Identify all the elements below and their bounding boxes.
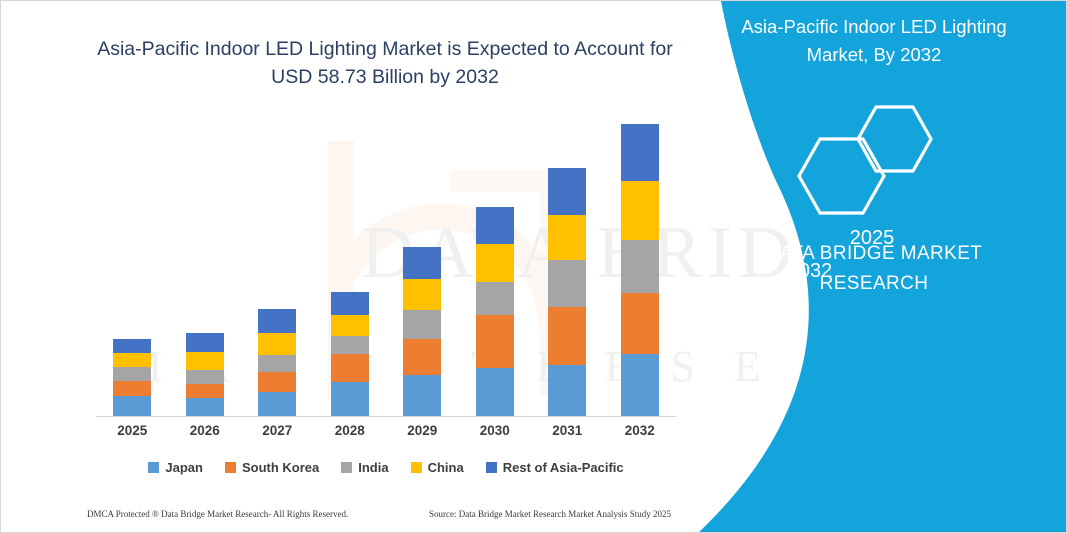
legend-swatch-icon [486, 462, 497, 473]
legend-item-india[interactable]: India [341, 460, 388, 475]
bar-segment-india [258, 355, 296, 372]
bar-segment-south-korea [113, 381, 151, 395]
bar-2027 [258, 309, 296, 417]
legend-label: Japan [165, 460, 203, 475]
bar-segment-south-korea [403, 339, 441, 376]
bar-segment-india [113, 367, 151, 381]
bar-segment-south-korea [548, 307, 586, 365]
bar-2031 [548, 168, 586, 417]
bar-segment-japan [476, 368, 514, 417]
bar-segment-rest-of-asia-pacific [113, 339, 151, 353]
bar-segment-india [476, 282, 514, 316]
x-axis-labels: 20252026202720282029203020312032 [96, 423, 676, 445]
bar-segment-south-korea [476, 315, 514, 367]
infographic-page: DATA BRIDGE M A R K E T R E S E A R C H … [0, 0, 1067, 533]
bar-segment-china [621, 181, 659, 241]
bar-segment-rest-of-asia-pacific [186, 333, 224, 352]
legend-item-south-korea[interactable]: South Korea [225, 460, 319, 475]
bar-segment-south-korea [258, 372, 296, 392]
bar-segment-japan [113, 396, 151, 417]
footer-source: Source: Data Bridge Market Research Mark… [429, 509, 671, 519]
legend-item-japan[interactable]: Japan [148, 460, 203, 475]
bar-segment-south-korea [621, 293, 659, 354]
brand-line-2: RESEARCH [714, 269, 1034, 299]
legend-swatch-icon [148, 462, 159, 473]
x-axis-label-2032: 2032 [610, 423, 670, 438]
bar-segment-rest-of-asia-pacific [476, 207, 514, 245]
bar-segment-china [403, 279, 441, 311]
x-axis-label-2029: 2029 [392, 423, 452, 438]
bar-segment-japan [403, 375, 441, 417]
bar-segment-china [186, 352, 224, 370]
legend-label: India [358, 460, 388, 475]
bar-segment-india [621, 240, 659, 292]
legend-label: China [428, 460, 464, 475]
brand-panel: Asia-Pacific Indoor LED Lighting Market,… [666, 1, 1066, 533]
bar-segment-rest-of-asia-pacific [258, 309, 296, 332]
bar-2025 [113, 339, 151, 417]
bar-segment-india [403, 310, 441, 338]
bar-segment-south-korea [186, 384, 224, 398]
x-axis-label-2027: 2027 [247, 423, 307, 438]
legend-swatch-icon [341, 462, 352, 473]
bar-2026 [186, 333, 224, 417]
bar-segment-india [186, 370, 224, 385]
bar-segment-japan [258, 392, 296, 417]
bar-segment-japan [621, 354, 659, 417]
bar-segment-india [548, 260, 586, 307]
bar-segment-rest-of-asia-pacific [331, 292, 369, 315]
hexagon-group: 2032 2025 [724, 101, 1024, 231]
legend-item-rest-of-asia-pacific[interactable]: Rest of Asia-Pacific [486, 460, 624, 475]
legend-swatch-icon [225, 462, 236, 473]
bar-segment-china [476, 244, 514, 282]
x-axis-label-2026: 2026 [175, 423, 235, 438]
x-axis-label-2031: 2031 [537, 423, 597, 438]
hexagon-shapes [724, 101, 1024, 231]
stacked-bar-chart [96, 111, 676, 417]
bar-segment-japan [331, 382, 369, 417]
legend-label: Rest of Asia-Pacific [503, 460, 624, 475]
footer-copyright: DMCA Protected ® Data Bridge Market Rese… [87, 509, 348, 519]
bar-segment-china [548, 215, 586, 260]
bar-2029 [403, 247, 441, 417]
x-axis-label-2030: 2030 [465, 423, 525, 438]
bar-segment-rest-of-asia-pacific [548, 168, 586, 215]
brand-name: DATA BRIDGE MARKET RESEARCH [714, 239, 1034, 299]
legend-swatch-icon [411, 462, 422, 473]
legend-label: South Korea [242, 460, 319, 475]
bar-segment-rest-of-asia-pacific [621, 124, 659, 181]
bar-segment-south-korea [331, 354, 369, 382]
bar-segment-china [258, 333, 296, 355]
bar-2028 [331, 292, 369, 417]
bar-segment-japan [186, 398, 224, 417]
bar-2030 [476, 207, 514, 417]
x-axis-label-2028: 2028 [320, 423, 380, 438]
bar-segment-china [331, 315, 369, 336]
x-axis-label-2025: 2025 [102, 423, 162, 438]
chart-title: Asia-Pacific Indoor LED Lighting Market … [89, 35, 681, 91]
brand-line-1: DATA BRIDGE MARKET [714, 239, 1034, 269]
legend-item-china[interactable]: China [411, 460, 464, 475]
bar-segment-india [331, 336, 369, 354]
bar-segment-japan [548, 365, 586, 417]
chart-legend: JapanSouth KoreaIndiaChinaRest of Asia-P… [96, 456, 676, 478]
bar-segment-rest-of-asia-pacific [403, 247, 441, 279]
bar-segment-china [113, 353, 151, 367]
panel-title: Asia-Pacific Indoor LED Lighting Market,… [714, 13, 1034, 69]
x-axis-line [96, 416, 676, 417]
bar-2032 [621, 124, 659, 417]
